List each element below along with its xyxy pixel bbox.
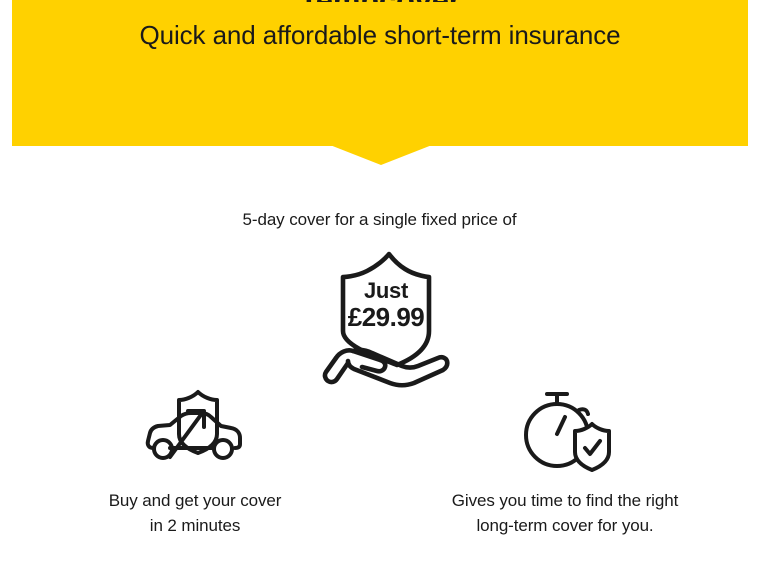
feature-caption: Buy and get your cover in 2 minutes	[30, 488, 360, 538]
feature-time-to-find: Gives you time to find the right long-te…	[400, 382, 730, 538]
hero-title: Tempcover	[12, 0, 748, 2]
hero-subtitle: Quick and affordable short-term insuranc…	[12, 18, 748, 52]
feature-buy-quickly: Buy and get your cover in 2 minutes	[30, 382, 360, 538]
price-shield-group: Just £29.99	[306, 248, 466, 394]
car-shield-arrow-icon	[139, 386, 251, 474]
feature-caption-line1: Gives you time to find the right	[400, 488, 730, 513]
stopwatch-check-shield-icon	[511, 384, 619, 476]
feature-icon-slot	[30, 382, 360, 478]
features-row: Buy and get your cover in 2 minutes	[0, 382, 759, 542]
feature-icon-slot	[400, 382, 730, 478]
price-lede-text: 5-day cover for a single fixed price of	[0, 210, 759, 230]
hero-notch-arrow	[330, 145, 432, 165]
feature-caption-line2: in 2 minutes	[30, 513, 360, 538]
feature-caption: Gives you time to find the right long-te…	[400, 488, 730, 538]
hero-banner: Tempcover Quick and affordable short-ter…	[12, 0, 748, 146]
shield-in-hand-icon	[306, 248, 466, 394]
promo-banner: Tempcover Quick and affordable short-ter…	[0, 0, 759, 569]
feature-caption-line1: Buy and get your cover	[30, 488, 360, 513]
feature-caption-line2: long-term cover for you.	[400, 513, 730, 538]
